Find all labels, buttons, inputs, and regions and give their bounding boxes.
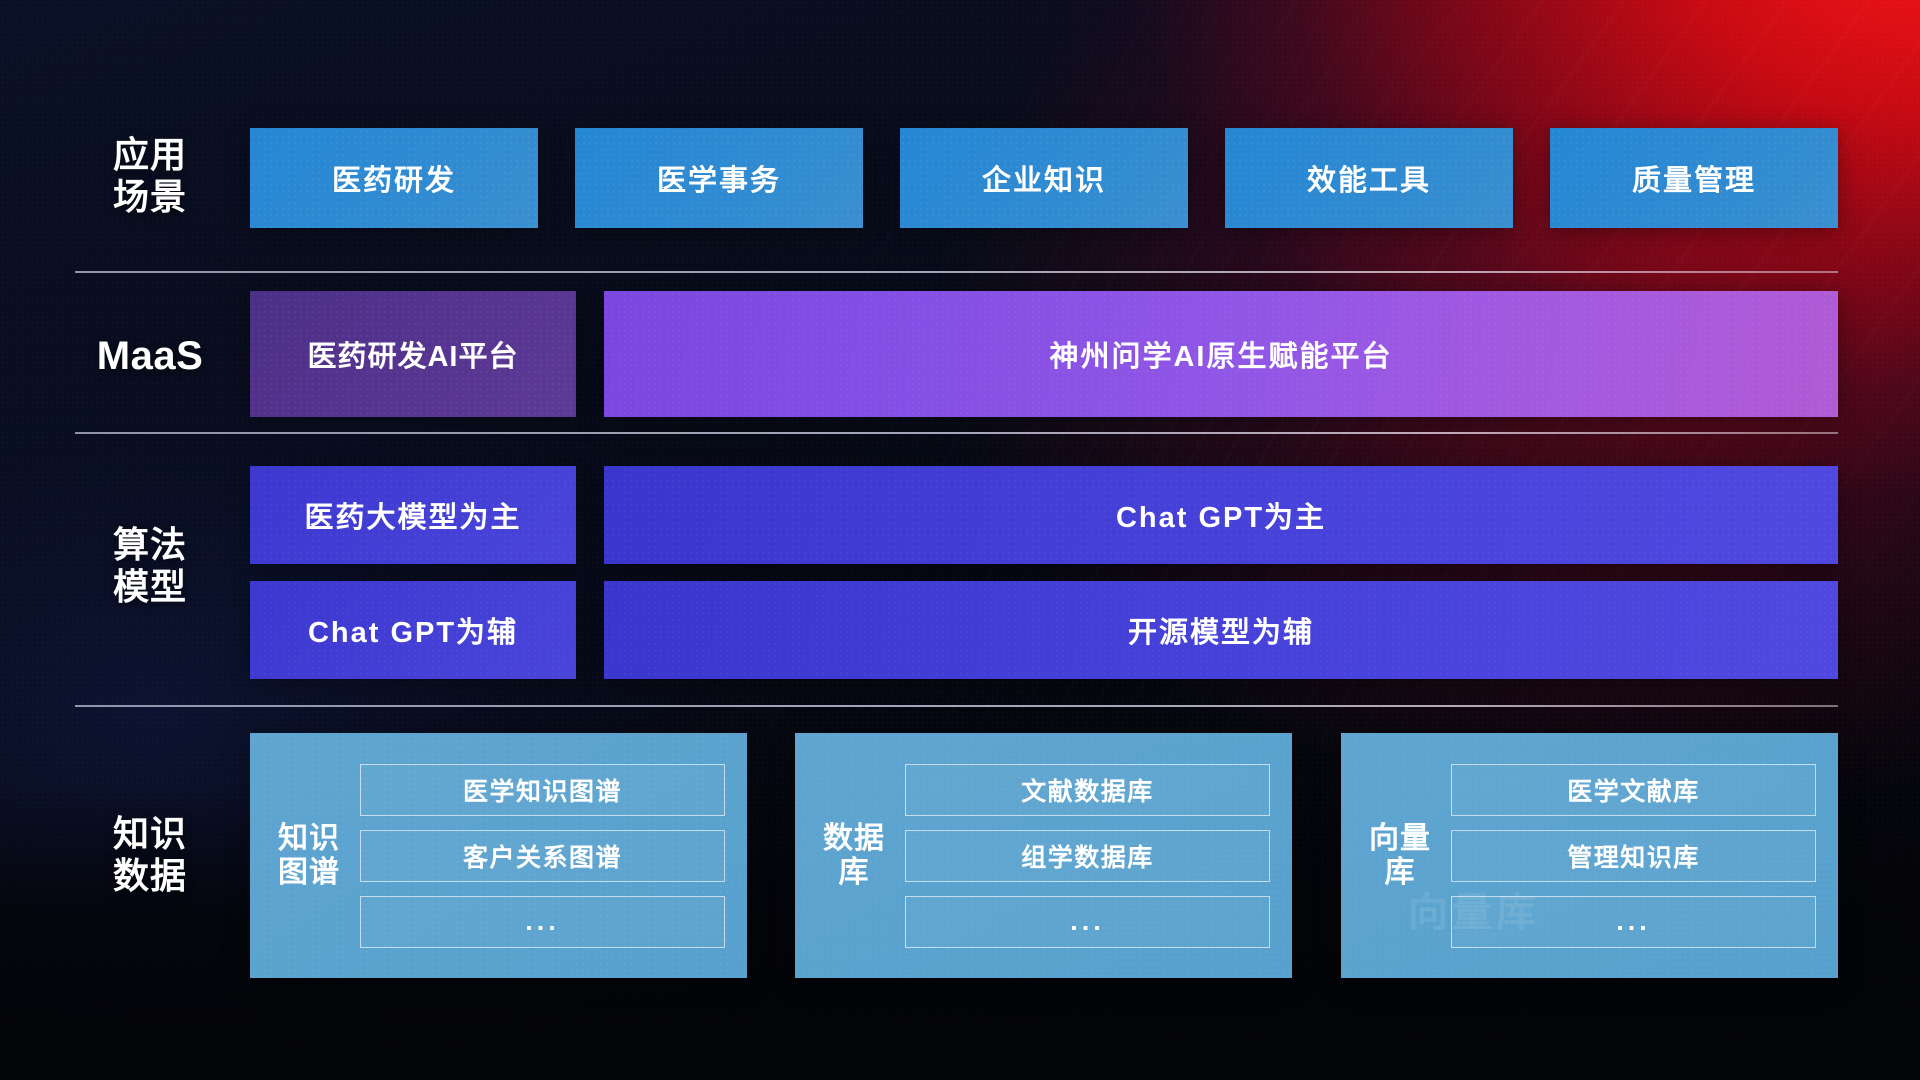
scenario-card-quality-management[interactable]: 质量管理 — [1550, 128, 1838, 228]
knowledge-group-title: 数据库 — [817, 822, 891, 889]
algo-card-chatgpt-primary[interactable]: Chat GPT为主 — [604, 466, 1838, 564]
knowledge-item[interactable]: 管理知识库 — [1451, 830, 1816, 882]
knowledge-item[interactable]: 组学数据库 — [905, 830, 1270, 882]
divider-maas-algorithm — [75, 432, 1838, 434]
algo-card-drug-llm-primary[interactable]: 医药大模型为主 — [250, 466, 576, 564]
algo-card-opensource-secondary[interactable]: 开源模型为辅 — [604, 581, 1838, 679]
algo-card-label: Chat GPT为主 — [1116, 494, 1326, 536]
scenario-card-medical-affairs[interactable]: 医学事务 — [575, 128, 863, 228]
algo-card-label: 开源模型为辅 — [1128, 609, 1314, 651]
scenario-card-strip: 医药研发 医学事务 企业知识 效能工具 质量管理 — [250, 128, 1838, 228]
divider-algorithm-knowledge — [75, 705, 1838, 707]
scenario-card-label: 医药研发 — [332, 157, 456, 199]
knowledge-group-title: 知识图谱 — [272, 822, 346, 889]
knowledge-item-more[interactable]: ... — [360, 896, 725, 948]
algo-card-label: Chat GPT为辅 — [308, 609, 518, 651]
knowledge-group-item-list: 医学知识图谱 客户关系图谱 ... — [346, 764, 747, 948]
knowledge-group-title: 向量库 — [1363, 822, 1437, 889]
algo-card-label: 医药大模型为主 — [304, 494, 521, 536]
divider-scenarios-maas — [75, 271, 1838, 273]
maas-platform-shenzhou-wenxue[interactable]: 神州问学AI原生赋能平台 — [604, 291, 1838, 417]
algo-card-chatgpt-secondary[interactable]: Chat GPT为辅 — [250, 581, 576, 679]
knowledge-item-more[interactable]: ... — [905, 896, 1270, 948]
scenario-card-label: 效能工具 — [1307, 157, 1431, 199]
maas-platform-label: 神州问学AI原生赋能平台 — [1049, 333, 1392, 375]
knowledge-item[interactable]: 医学知识图谱 — [360, 764, 725, 816]
knowledge-item[interactable]: 文献数据库 — [905, 764, 1270, 816]
row-label-knowledge-data: 知识 数据 — [70, 813, 230, 898]
architecture-rows: 应用 场景 医药研发 医学事务 企业知识 效能工具 质量管理 MaaS 医药研发… — [0, 0, 1920, 1080]
slide-canvas: 应用 场景 医药研发 医学事务 企业知识 效能工具 质量管理 MaaS 医药研发… — [0, 0, 1920, 1080]
scenario-card-label: 企业知识 — [982, 157, 1106, 199]
knowledge-group-vector-store[interactable]: 向量库 医学文献库 管理知识库 ... — [1341, 733, 1838, 978]
knowledge-group-item-list: 文献数据库 组学数据库 ... — [891, 764, 1292, 948]
maas-platform-label: 医药研发AI平台 — [307, 333, 518, 375]
knowledge-item-more[interactable]: ... — [1451, 896, 1816, 948]
row-label-algorithm-models: 算法 模型 — [70, 524, 230, 609]
row-label-application-scenarios: 应用 场景 — [70, 134, 230, 219]
knowledge-group-database[interactable]: 数据库 文献数据库 组学数据库 ... — [795, 733, 1292, 978]
row-label-maas: MaaS — [70, 333, 230, 380]
knowledge-item[interactable]: 客户关系图谱 — [360, 830, 725, 882]
knowledge-group-knowledge-graph[interactable]: 知识图谱 医学知识图谱 客户关系图谱 ... — [250, 733, 747, 978]
scenario-card-label: 医学事务 — [657, 157, 781, 199]
maas-platform-drug-rnd[interactable]: 医药研发AI平台 — [250, 291, 576, 417]
scenario-card-label: 质量管理 — [1632, 157, 1756, 199]
scenario-card-efficiency-tools[interactable]: 效能工具 — [1225, 128, 1513, 228]
scenario-card-drug-rnd[interactable]: 医药研发 — [250, 128, 538, 228]
knowledge-item[interactable]: 医学文献库 — [1451, 764, 1816, 816]
scenario-card-enterprise-knowledge[interactable]: 企业知识 — [900, 128, 1188, 228]
knowledge-group-item-list: 医学文献库 管理知识库 ... — [1437, 764, 1838, 948]
